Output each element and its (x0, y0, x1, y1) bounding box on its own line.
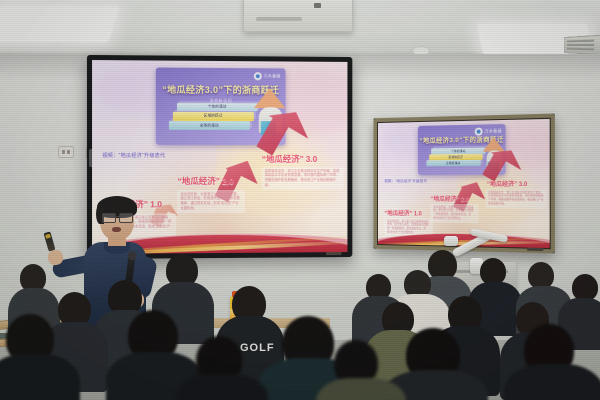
stage-description-2: 走出去阶段：大量浙江人走外闯荡发展，建立浙江商会，形成浙商全网络一体发展格局，通… (177, 190, 244, 213)
side-stage-label-3: “地瓜经济” 3.0 (487, 178, 527, 187)
lecture-hall-photo: 万木春展 “地瓜经济3.0”下的浙商跃迁 浙商新征程 全球的涌动 区域的跃迁 个… (0, 0, 600, 400)
stage-description-3: 高质量走出去：浙江企业集全球优化生产布局，高质量和高水平出资贸易发展，用好国内国… (262, 167, 344, 190)
ceiling-light-panel-left (0, 6, 120, 42)
stage-label-3: “地瓜经济”3.0 (262, 153, 318, 165)
wall-outlet-1[interactable] (58, 146, 74, 158)
presenter-mouth (112, 227, 121, 232)
jacket-text-golf: GOLF (240, 342, 275, 354)
audience: GOLF (0, 240, 600, 400)
air-vent-icon (564, 35, 600, 56)
slide-video-link[interactable]: 视频：“地瓜经济”升级迭代 (102, 152, 165, 159)
video-card-bar: 个体的涌动 (432, 148, 486, 154)
projector-vent (256, 17, 302, 21)
brand-logo-label: 万木春展 (264, 74, 281, 80)
video-card-bar: 全球的涌动 (426, 160, 480, 166)
side-stage-label-2: “地瓜经济” 2.0 (430, 193, 469, 202)
projector-lens (314, 3, 321, 8)
secondary-mirror-display[interactable]: 万木春展 “地瓜经济3.0”下的浙商跃迁 全球的涌动 区域的跃迁 个体的涌动 视… (373, 114, 554, 254)
ceiling-projector-icon (243, 0, 353, 32)
stage-label-2: “地瓜经济”2.0 (177, 175, 233, 187)
side-slide: 万木春展 “地瓜经济3.0”下的浙商跃迁 全球的涌动 区域的跃迁 个体的涌动 视… (378, 119, 550, 248)
video-card-bar: 区域的跃迁 (173, 112, 254, 121)
video-card-bar: 个体的涌动 (177, 103, 258, 112)
side-stage-description-3: 高质量走出去：浙江企业集全球优化生产布局，高质量和高水平出资贸易发展，用好国内国… (485, 189, 547, 209)
glasses-icon (102, 213, 133, 221)
brand-logo-icon: 万木春展 (254, 73, 281, 81)
side-stage-label-1: “地瓜经济” 1.0 (384, 208, 421, 217)
video-card-bar: 区域的跃迁 (429, 154, 483, 160)
side-slide-video-link: 视频：“地瓜经济”升级迭代 (384, 179, 427, 184)
video-card-bar: 全球的涌动 (169, 121, 250, 130)
